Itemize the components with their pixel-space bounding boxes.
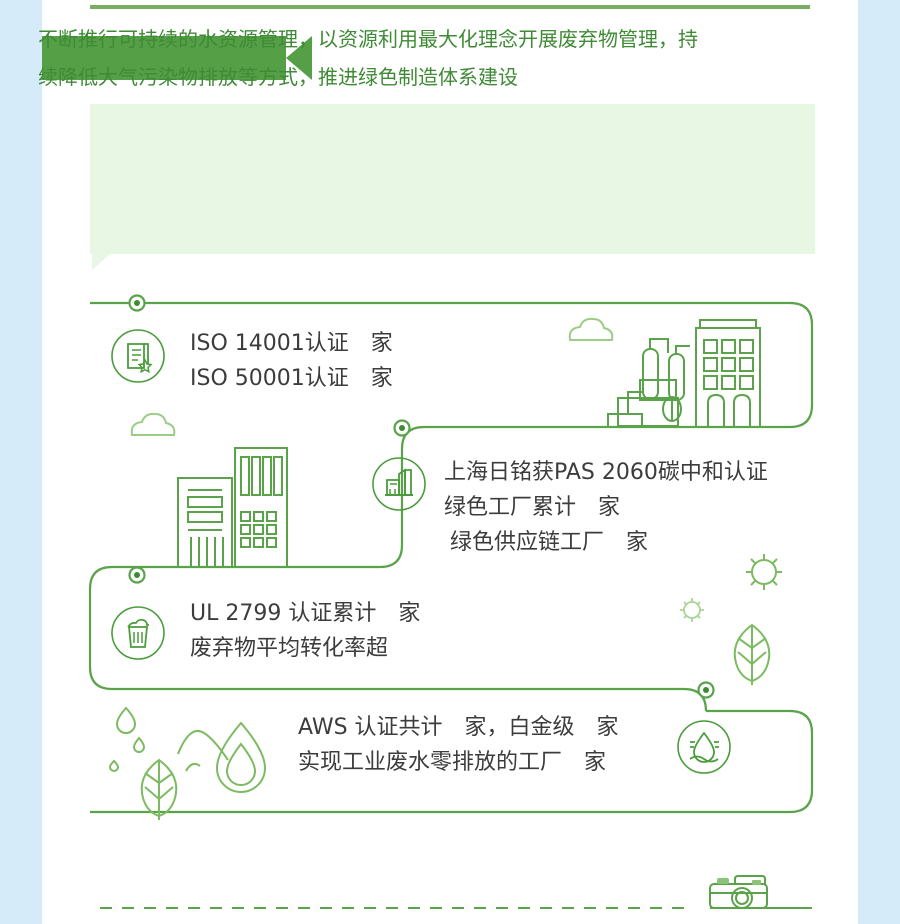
row-2-line-2: 绿色工厂累计 家 — [444, 490, 768, 525]
gear-icon-small — [680, 598, 704, 622]
node-dot-2-core — [399, 425, 405, 431]
infographic-page: 推行绿色生产 不断推行可持续的水资源管理，以资源利用最大化理念开展废弃物管理，持… — [0, 0, 900, 924]
camera-icon — [710, 876, 767, 908]
row-1-line-1: ISO 14001认证 家 — [190, 326, 393, 361]
node-dot-4-core — [703, 687, 709, 693]
certificate-icon — [110, 328, 166, 384]
leaf-icon — [735, 625, 770, 685]
row-3-line-1: UL 2799 认证累计 家 — [190, 596, 420, 631]
row-4-line-2: 实现工业废水零排放的工厂 家 — [298, 745, 619, 780]
row-4-line-1: AWS 认证共计 家，白金级 家 — [298, 710, 619, 745]
row-2-line-1: 上海日铭获PAS 2060碳中和认证 — [444, 455, 768, 490]
content-row-4-lines: AWS 认证共计 家，白金级 家 实现工业废水零排放的工厂 家 — [298, 710, 619, 780]
trash-bin-icon — [110, 605, 166, 661]
factory-illustration — [608, 320, 760, 427]
node-dot-3-core — [134, 572, 140, 578]
node-dot-1-core — [134, 300, 140, 306]
row-2-line-3: 绿色供应链工厂 家 — [444, 525, 768, 560]
row-1-line-2: ISO 50001认证 家 — [190, 361, 393, 396]
factory-icon — [371, 456, 427, 512]
content-row-2-lines: 上海日铭获PAS 2060碳中和认证 绿色工厂累计 家 绿色供应链工厂 家 — [444, 455, 768, 560]
content-row-1-lines: ISO 14001认证 家 ISO 50001认证 家 — [190, 326, 393, 396]
building-illustration — [178, 448, 287, 567]
cloud-icon-2 — [132, 414, 175, 435]
content-row-3-lines: UL 2799 认证累计 家 废弃物平均转化率超 — [190, 596, 420, 666]
water-drop-icon — [676, 719, 732, 775]
row-3-line-2: 废弃物平均转化率超 — [190, 631, 420, 666]
water-drop-illustration — [110, 708, 265, 820]
cloud-icon — [570, 319, 613, 340]
